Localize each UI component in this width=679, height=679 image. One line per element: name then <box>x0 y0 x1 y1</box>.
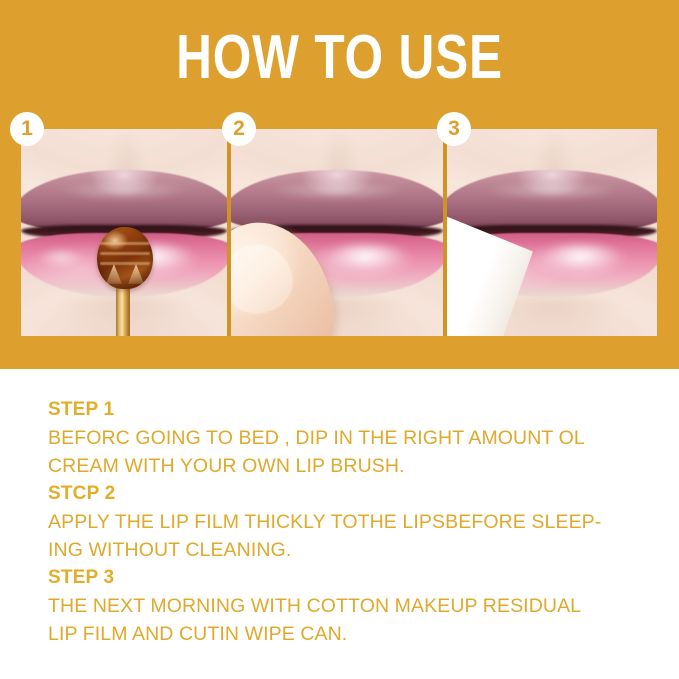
step-3-heading: STEP 3 <box>48 564 648 592</box>
gold-banner: HOW TO USE <box>0 0 679 369</box>
upper-lip-sheen <box>268 180 405 201</box>
step-badge-3: 3 <box>437 112 471 146</box>
step-1-heading: STEP 1 <box>48 396 648 424</box>
upper-lip-sheen <box>57 180 190 201</box>
fingernail-icon <box>231 236 300 321</box>
page-title: HOW TO USE <box>68 26 611 90</box>
upper-lip-sheen <box>484 180 620 201</box>
step-3-body: THE NEXT MORNING WITH COTTON MAKEUP RESI… <box>48 592 648 648</box>
step-image-strip <box>21 129 658 336</box>
step-badge-2: 2 <box>222 112 256 146</box>
panel-applicator <box>21 129 227 336</box>
step-1-body: BEFORC GOING TO BED , DIP IN THE RIGHT A… <box>48 424 648 480</box>
step-badge-1: 1 <box>10 112 44 146</box>
applicator-rod-icon <box>116 281 130 336</box>
applicator-bead-icon <box>97 227 153 289</box>
step-2-body: APPLY THE LIP FILM THICKLY TOTHE LIPSBEF… <box>48 508 648 564</box>
panel-cotton-pad <box>447 129 657 336</box>
instructions-list: STEP 1 BEFORC GOING TO BED , DIP IN THE … <box>48 396 648 648</box>
upper-lip <box>447 170 657 232</box>
lower-lip-gloss <box>328 244 404 270</box>
upper-lip <box>21 170 227 232</box>
lower-lip-gloss <box>543 244 619 270</box>
panel-finger <box>231 129 443 336</box>
lower-lip-gloss-secondary <box>37 249 85 268</box>
how-to-use-infographic: HOW TO USE <box>0 0 679 679</box>
step-2-heading: STCP 2 <box>48 480 648 508</box>
